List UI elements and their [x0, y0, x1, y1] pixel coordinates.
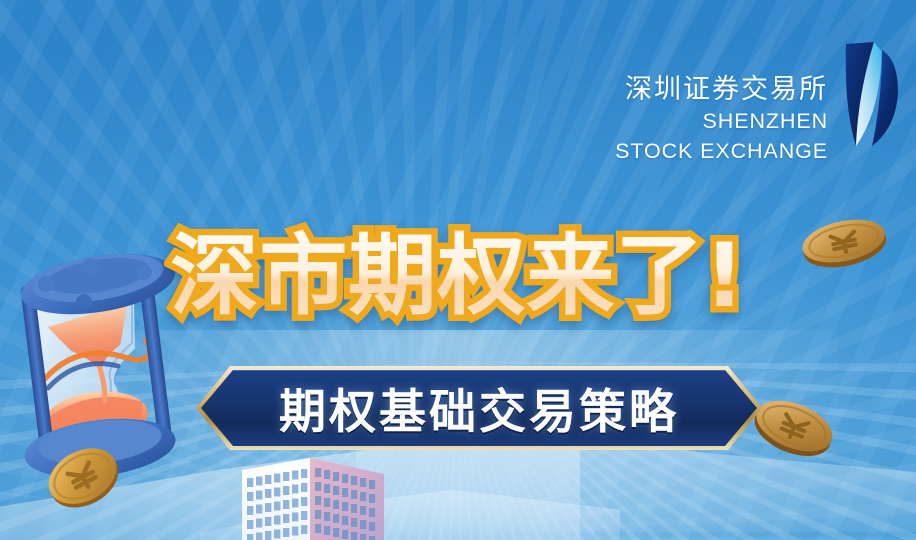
logo-name-en-line1: SHENZHEN: [615, 108, 828, 134]
hero-subtitle-text: 期权基础交易策略: [196, 366, 762, 450]
logo-name-cn: 深圳证券交易所: [615, 74, 828, 104]
promo-banner: 深市期权来了! 深市期权来了! 期权基础交易策略 深圳证券交易所 SHENZHE…: [0, 0, 916, 540]
coin-top-right: [796, 206, 892, 278]
coin-left: [38, 432, 128, 522]
office-tower-illustration: [236, 452, 436, 540]
hero-subtitle-banner: 期权基础交易策略: [196, 366, 762, 450]
szse-logo: 深圳证券交易所 SHENZHEN STOCK EXCHANGE: [615, 34, 900, 174]
logo-name-en-line2: STOCK EXCHANGE: [615, 138, 828, 164]
szse-leaf-mark-icon: [842, 34, 900, 174]
